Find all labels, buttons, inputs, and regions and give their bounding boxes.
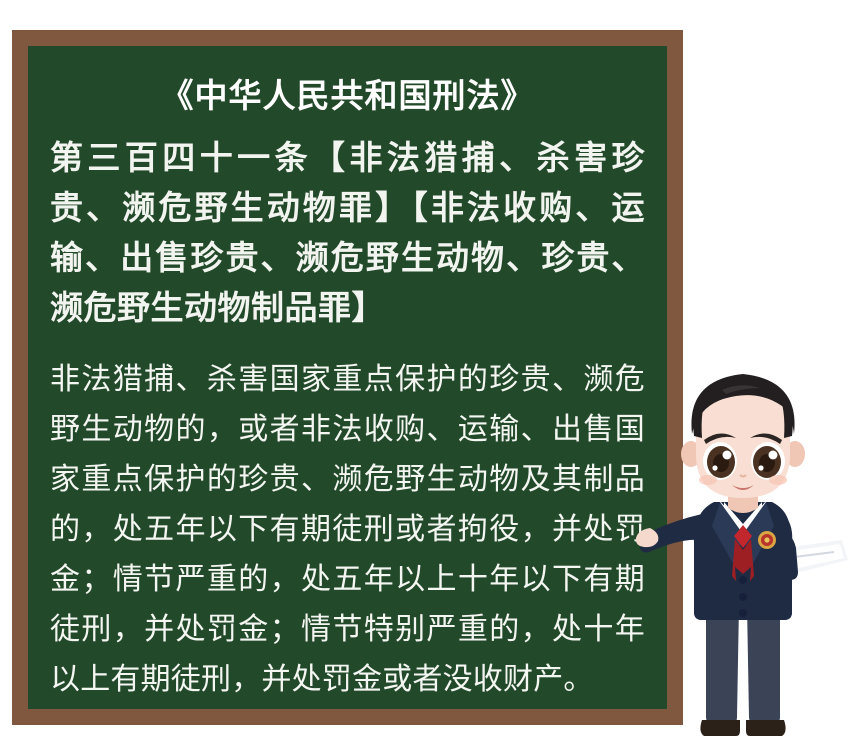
article-heading: 第三百四十一条【非法猎捕、杀害珍贵、濒危野生动物罪】【非法收购、运输、出售珍贵、…: [50, 133, 645, 333]
page-title: 《中华人民共和国刑法》: [50, 73, 645, 119]
cartoon-official-character: [636, 362, 850, 750]
shoes: [700, 720, 785, 736]
documents-in-hand: [776, 530, 848, 580]
jacket-button-3: [739, 609, 747, 617]
jacket-button-2: [739, 593, 747, 601]
right-eye: [751, 442, 785, 480]
right-cheek: [769, 475, 787, 485]
trousers: [706, 605, 780, 723]
head: [681, 374, 805, 498]
left-cheek: [699, 475, 717, 485]
blackboard-surface: 《中华人民共和国刑法》 第三百四十一条【非法猎捕、杀害珍贵、濒危野生动物罪】【非…: [28, 46, 667, 709]
blackboard-frame: 《中华人民共和国刑法》 第三百四十一条【非法猎捕、杀害珍贵、濒危野生动物罪】【非…: [12, 30, 683, 725]
article-body-text: 非法猎捕、杀害国家重点保护的珍贵、濒危野生动物的，或者非法收购、运输、出售国家重…: [50, 355, 645, 705]
left-eye: [703, 442, 737, 480]
lapel-badge: [758, 531, 776, 549]
jacket-button-1: [739, 576, 747, 584]
